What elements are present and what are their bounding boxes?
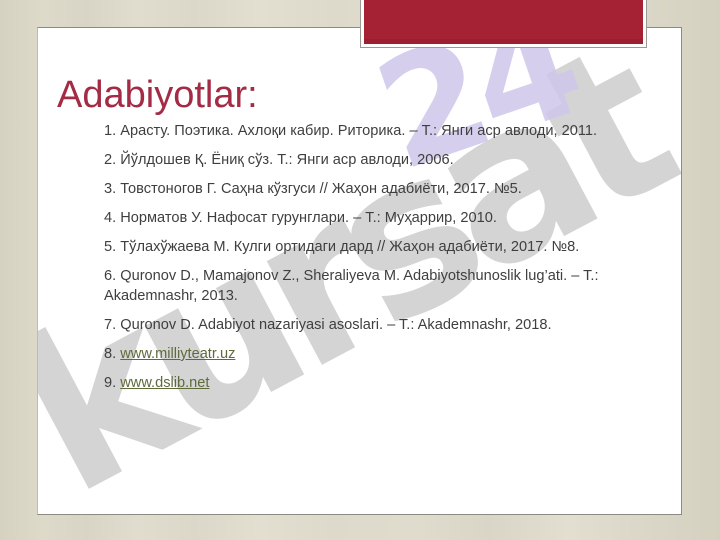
hyperlink[interactable]: www.milliyteatr.uz xyxy=(120,346,235,362)
list-item-number: 5. xyxy=(104,239,116,255)
list-item-number: 8. xyxy=(104,346,116,362)
list-item-number: 9. xyxy=(104,375,116,391)
list-item-text: Quronov D., Mamajonov Z., Sheraliyeva M.… xyxy=(104,268,599,304)
list-item[interactable]: 9. www.dslib.net xyxy=(104,373,624,393)
list-item-number: 2. xyxy=(104,152,116,168)
header-banner xyxy=(360,0,647,48)
list-item-text: Тўлахўжаева М. Кулги ортидаги дард // Жа… xyxy=(120,239,579,255)
presentation-slide: kursat 24 Adabiyotlar: 1. Арасту. Поэтик… xyxy=(37,27,682,515)
list-item: 4. Норматов У. Нафосат гурунглари. – Т.:… xyxy=(104,208,624,228)
list-item-text: Арасту. Поэтика. Ахлоқи кабир. Риторика.… xyxy=(120,123,597,139)
page-title: Adabiyotlar: xyxy=(57,76,258,114)
list-item: 7. Quronov D. Adabiyot nazariyasi asosla… xyxy=(104,315,624,335)
list-item: 1. Арасту. Поэтика. Ахлоқи кабир. Ритори… xyxy=(104,121,624,141)
list-item-number: 7. xyxy=(104,317,116,333)
list-item-text: Товстоногов Г. Саҳна кўзгуси // Жаҳон ад… xyxy=(120,181,522,197)
list-item-number: 6. xyxy=(104,268,116,284)
list-item-number: 4. xyxy=(104,210,116,226)
list-item: 2. Йўлдошев Қ. Ёниқ сўз. Т.: Янги аср ав… xyxy=(104,150,624,170)
list-item-text: Quronov D. Adabiyot nazariyasi asoslari.… xyxy=(120,317,551,333)
header-banner-fill xyxy=(364,0,643,44)
list-item-text: Норматов У. Нафосат гурунглари. – Т.: Му… xyxy=(120,210,497,226)
list-item-number: 3. xyxy=(104,181,116,197)
list-item: 5. Тўлахўжаева М. Кулги ортидаги дард //… xyxy=(104,237,624,257)
list-item[interactable]: 8. www.milliyteatr.uz xyxy=(104,344,624,364)
list-item: 3. Товстоногов Г. Саҳна кўзгуси // Жаҳон… xyxy=(104,179,624,199)
list-item: 6. Quronov D., Mamajonov Z., Sheraliyeva… xyxy=(104,266,624,306)
hyperlink[interactable]: www.dslib.net xyxy=(120,375,209,391)
list-item-text: Йўлдошев Қ. Ёниқ сўз. Т.: Янги аср авлод… xyxy=(120,152,453,168)
list-item-number: 1. xyxy=(104,123,116,139)
references-list: 1. Арасту. Поэтика. Ахлоқи кабир. Ритори… xyxy=(104,121,624,393)
